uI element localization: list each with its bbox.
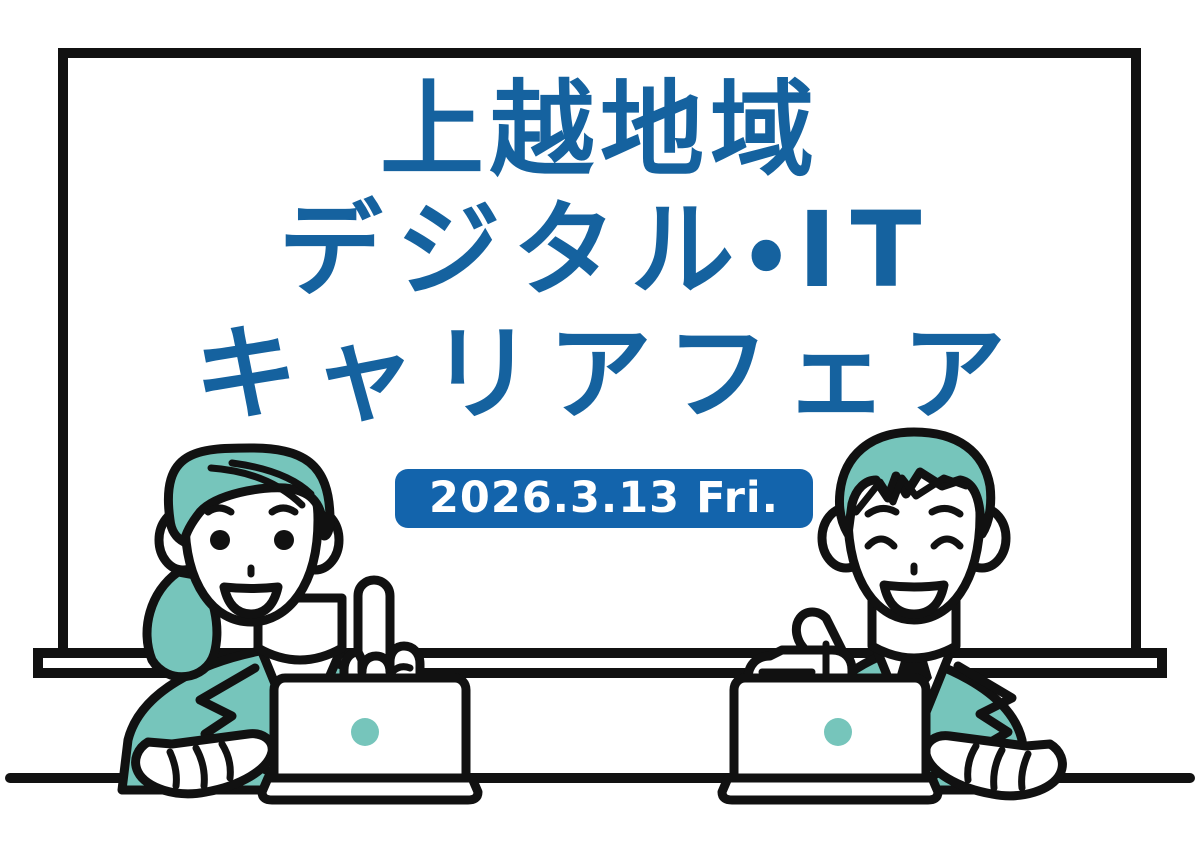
poster-canvas: .ln { fill:none; stroke:#111111; stroke-… [0,0,1200,850]
man-mouth [884,585,944,614]
woman-eye-right [274,530,294,550]
woman-eye-left [210,530,230,550]
event-date-text: 2026.3.13 Fri. [429,477,779,520]
woman-eyebrow-right [272,508,295,512]
poster-illustration: .ln { fill:none; stroke:#111111; stroke-… [0,0,1200,850]
woman-eyebrow-left [208,508,231,512]
laptop-logo-dot-left [351,718,379,746]
event-date-badge[interactable]: 2026.3.13 Fri. [395,469,813,528]
woman-mouth [224,587,278,614]
woman-laptop [262,678,478,800]
man-laptop [722,678,938,800]
laptop-logo-dot-right [824,718,852,746]
